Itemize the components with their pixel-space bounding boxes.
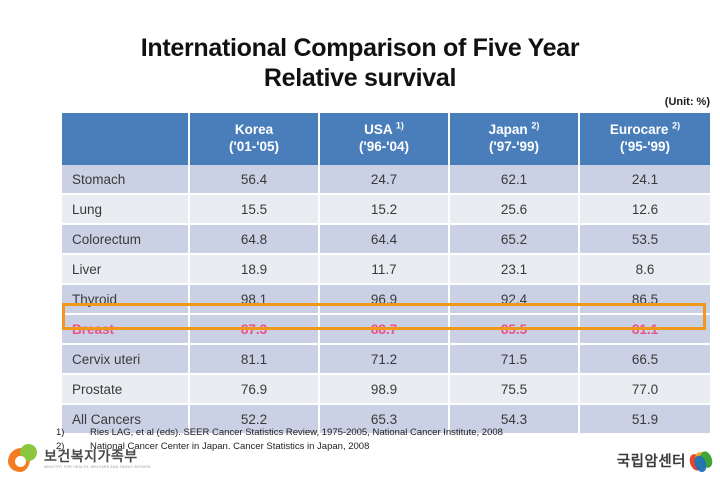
header-footnote-marker-japan: 2): [531, 121, 539, 131]
cell-eurocare: 81.1: [580, 315, 710, 345]
cell-eurocare: 66.5: [580, 345, 710, 375]
table-header-row: Korea ('01-'05) USA 1) ('96-'04) Japan 2…: [62, 113, 710, 165]
ministry-name-ko: 보건복지가족부: [44, 449, 151, 463]
page-title: International Comparison of Five Year Re…: [60, 34, 660, 93]
cell-eurocare: 8.6: [580, 255, 710, 285]
cell-usa: 96.9: [320, 285, 450, 315]
cell-korea: 56.4: [190, 165, 320, 195]
cell-usa: 71.2: [320, 345, 450, 375]
table-row: Thyroid 98.1 96.9 92.4 86.5: [62, 285, 710, 315]
table-row: Colorectum 64.8 64.4 65.2 53.5: [62, 225, 710, 255]
cell-japan: 25.6: [450, 195, 580, 225]
row-label: Breast: [62, 315, 190, 345]
cell-eurocare: 12.6: [580, 195, 710, 225]
cell-eurocare: 86.5: [580, 285, 710, 315]
ministry-logo-text: 보건복지가족부 MINISTRY FOR HEALTH, WELFARE AND…: [44, 449, 151, 470]
footnote-1-text: Ries LAG, et al (eds). SEER Cancer Stati…: [90, 427, 503, 438]
cell-eurocare: 77.0: [580, 375, 710, 405]
table-row: Cervix uteri 81.1 71.2 71.5 66.5: [62, 345, 710, 375]
header-country-usa: USA 1): [322, 122, 446, 139]
header-country-korea: Korea: [192, 122, 316, 139]
header-cell-korea: Korea ('01-'05): [190, 113, 320, 165]
header-footnote-marker-usa: 1): [396, 121, 404, 131]
cell-usa: 15.2: [320, 195, 450, 225]
header-country-japan-text: Japan: [489, 122, 528, 137]
table-row: Liver 18.9 11.7 23.1 8.6: [62, 255, 710, 285]
ncc-logo: 국립암센터: [617, 450, 712, 471]
cell-korea: 81.1: [190, 345, 320, 375]
header-country-eurocare: Eurocare 2): [582, 122, 708, 139]
row-label: Stomach: [62, 165, 190, 195]
table-row: Prostate 76.9 98.9 75.5 77.0: [62, 375, 710, 405]
cell-japan: 62.1: [450, 165, 580, 195]
ncc-oval-icon: [688, 448, 715, 472]
cell-eurocare: 53.5: [580, 225, 710, 255]
ncc-name-ko: 국립암센터: [617, 450, 686, 471]
row-label: Cervix uteri: [62, 345, 190, 375]
cell-korea: 18.9: [190, 255, 320, 285]
header-years-japan: ('97-'99): [452, 139, 576, 156]
row-label: Liver: [62, 255, 190, 285]
header-cell-blank: [62, 113, 190, 165]
header-cell-eurocare: Eurocare 2) ('95-'99): [580, 113, 710, 165]
ministry-swirl-icon: [8, 444, 38, 474]
cell-usa: 88.7: [320, 315, 450, 345]
comparison-table: Korea ('01-'05) USA 1) ('96-'04) Japan 2…: [62, 113, 710, 435]
cell-usa: 11.7: [320, 255, 450, 285]
table-body: Stomach 56.4 24.7 62.1 24.1 Lung 15.5 15…: [62, 165, 710, 435]
header-country-eurocare-text: Eurocare: [610, 122, 669, 137]
cell-usa: 24.7: [320, 165, 450, 195]
header-years-eurocare: ('95-'99): [582, 139, 708, 156]
cell-japan: 23.1: [450, 255, 580, 285]
row-label: Prostate: [62, 375, 190, 405]
header-cell-usa: USA 1) ('96-'04): [320, 113, 450, 165]
cell-eurocare: 51.9: [580, 405, 710, 435]
page-title-line-1: International Comparison of Five Year: [60, 34, 660, 64]
row-label: Lung: [62, 195, 190, 225]
comparison-table-container: Korea ('01-'05) USA 1) ('96-'04) Japan 2…: [62, 113, 710, 435]
table-row: Lung 15.5 15.2 25.6 12.6: [62, 195, 710, 225]
cell-eurocare: 24.1: [580, 165, 710, 195]
header-footnote-marker-eurocare: 2): [672, 121, 680, 131]
ministry-tagline: MINISTRY FOR HEALTH, WELFARE AND FAMILY …: [44, 466, 151, 470]
ministry-logo: 보건복지가족부 MINISTRY FOR HEALTH, WELFARE AND…: [8, 444, 151, 474]
header-years-korea: ('01-'05): [192, 139, 316, 156]
page-title-line-2: Relative survival: [60, 64, 660, 94]
cell-usa: 64.4: [320, 225, 450, 255]
row-label: Thyroid: [62, 285, 190, 315]
table-row: Stomach 56.4 24.7 62.1 24.1: [62, 165, 710, 195]
cell-korea: 15.5: [190, 195, 320, 225]
header-years-usa: ('96-'04): [322, 139, 446, 156]
footnote-1: 1)Ries LAG, et al (eds). SEER Cancer Sta…: [56, 426, 503, 440]
cell-usa: 98.9: [320, 375, 450, 405]
cell-japan: 71.5: [450, 345, 580, 375]
cell-japan: 75.5: [450, 375, 580, 405]
header-country-usa-text: USA: [364, 122, 392, 137]
unit-note: (Unit: %): [665, 96, 710, 108]
cell-japan: 65.2: [450, 225, 580, 255]
cell-korea: 98.1: [190, 285, 320, 315]
footnote-1-marker: 1): [56, 426, 90, 440]
cell-korea: 64.8: [190, 225, 320, 255]
table-row-highlighted-breast: Breast 87.3 88.7 85.5 81.1: [62, 315, 710, 345]
row-label: Colorectum: [62, 225, 190, 255]
cell-korea: 87.3: [190, 315, 320, 345]
table-header: Korea ('01-'05) USA 1) ('96-'04) Japan 2…: [62, 113, 710, 165]
header-cell-japan: Japan 2) ('97-'99): [450, 113, 580, 165]
header-country-japan: Japan 2): [452, 122, 576, 139]
cell-japan: 85.5: [450, 315, 580, 345]
cell-korea: 76.9: [190, 375, 320, 405]
cell-japan: 92.4: [450, 285, 580, 315]
